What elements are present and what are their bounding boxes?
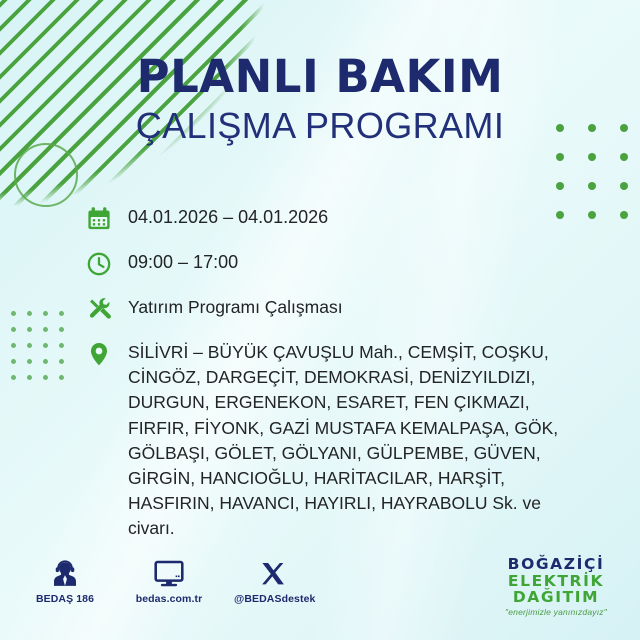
page-subtitle: ÇALIŞMA PROGRAMI: [0, 105, 640, 146]
detail-row-affected-area: SİLİVRİ – BÜYÜK ÇAVUŞLU Mah., CEMŞİT, CO…: [86, 340, 586, 542]
page-title: PLANLI BAKIM: [0, 54, 640, 99]
poster-footer: BEDAŞ 186 bedas.com.tr: [0, 554, 640, 626]
dot: [27, 343, 32, 348]
contact-channels: BEDAŞ 186 bedas.com.tr: [26, 554, 312, 605]
brand-line-3: DAĞITIM: [486, 589, 626, 606]
clock-icon: [86, 250, 120, 281]
brand-tagline: "enerjimizle yanınızdayız": [486, 608, 626, 617]
dot: [27, 311, 32, 316]
dot: [43, 359, 48, 364]
monitor-icon: [130, 554, 208, 588]
contact-phone[interactable]: BEDAŞ 186: [26, 554, 104, 605]
dot: [588, 182, 596, 190]
dot: [620, 153, 628, 161]
detail-row-time: 09:00 – 17:00: [86, 250, 586, 281]
affected-area-text: SİLİVRİ – BÜYÜK ÇAVUŞLU Mah., CEMŞİT, CO…: [120, 340, 586, 542]
detail-row-date: 04.01.2026 – 04.01.2026: [86, 205, 586, 236]
dot: [43, 327, 48, 332]
work-type-text: Yatırım Programı Çalışması: [120, 295, 343, 320]
contact-phone-label: BEDAŞ 186: [26, 593, 104, 605]
contact-x-social[interactable]: @BEDASdestek: [234, 554, 312, 605]
detail-row-work-type: Yatırım Programı Çalışması: [86, 295, 586, 326]
dot: [11, 359, 16, 364]
dot: [11, 327, 16, 332]
calendar-icon: [86, 205, 120, 236]
dot: [59, 343, 64, 348]
dot: [27, 375, 32, 380]
dot: [556, 153, 564, 161]
brand-line-2: ELEKTRİK: [486, 573, 626, 590]
dot: [588, 153, 596, 161]
dot: [620, 211, 628, 219]
dot: [59, 311, 64, 316]
circle-outline-decoration: [14, 143, 78, 207]
brand-line-1: BOĞAZİÇİ: [486, 556, 626, 573]
dot: [27, 327, 32, 332]
maintenance-details: 04.01.2026 – 04.01.2026 09:00 – 17:00: [86, 205, 586, 542]
dot: [11, 311, 16, 316]
contact-website[interactable]: bedas.com.tr: [130, 554, 208, 605]
dot: [27, 359, 32, 364]
time-range-text: 09:00 – 17:00: [120, 250, 238, 276]
dot: [43, 343, 48, 348]
planned-maintenance-poster: PLANLI BAKIM ÇALIŞMA PROGRAMI 04: [0, 0, 640, 640]
dot: [43, 311, 48, 316]
company-logo: BOĞAZİÇİ ELEKTRİK DAĞITIM "enerjimizle y…: [486, 556, 626, 617]
dot: [11, 375, 16, 380]
location-pin-icon: [86, 340, 120, 371]
x-twitter-icon: [234, 554, 312, 588]
support-agent-icon: [26, 554, 104, 588]
dot: [59, 327, 64, 332]
dot-grid-left-decoration: [11, 311, 64, 380]
poster-header: PLANLI BAKIM ÇALIŞMA PROGRAMI: [0, 54, 640, 146]
dot: [59, 375, 64, 380]
contact-x-label: @BEDASdestek: [234, 593, 312, 605]
tools-icon: [86, 295, 120, 326]
contact-website-label: bedas.com.tr: [130, 593, 208, 605]
dot: [43, 375, 48, 380]
dot: [556, 182, 564, 190]
dot: [588, 211, 596, 219]
date-range-text: 04.01.2026 – 04.01.2026: [120, 205, 328, 231]
dot: [620, 182, 628, 190]
dot: [59, 359, 64, 364]
dot: [11, 343, 16, 348]
